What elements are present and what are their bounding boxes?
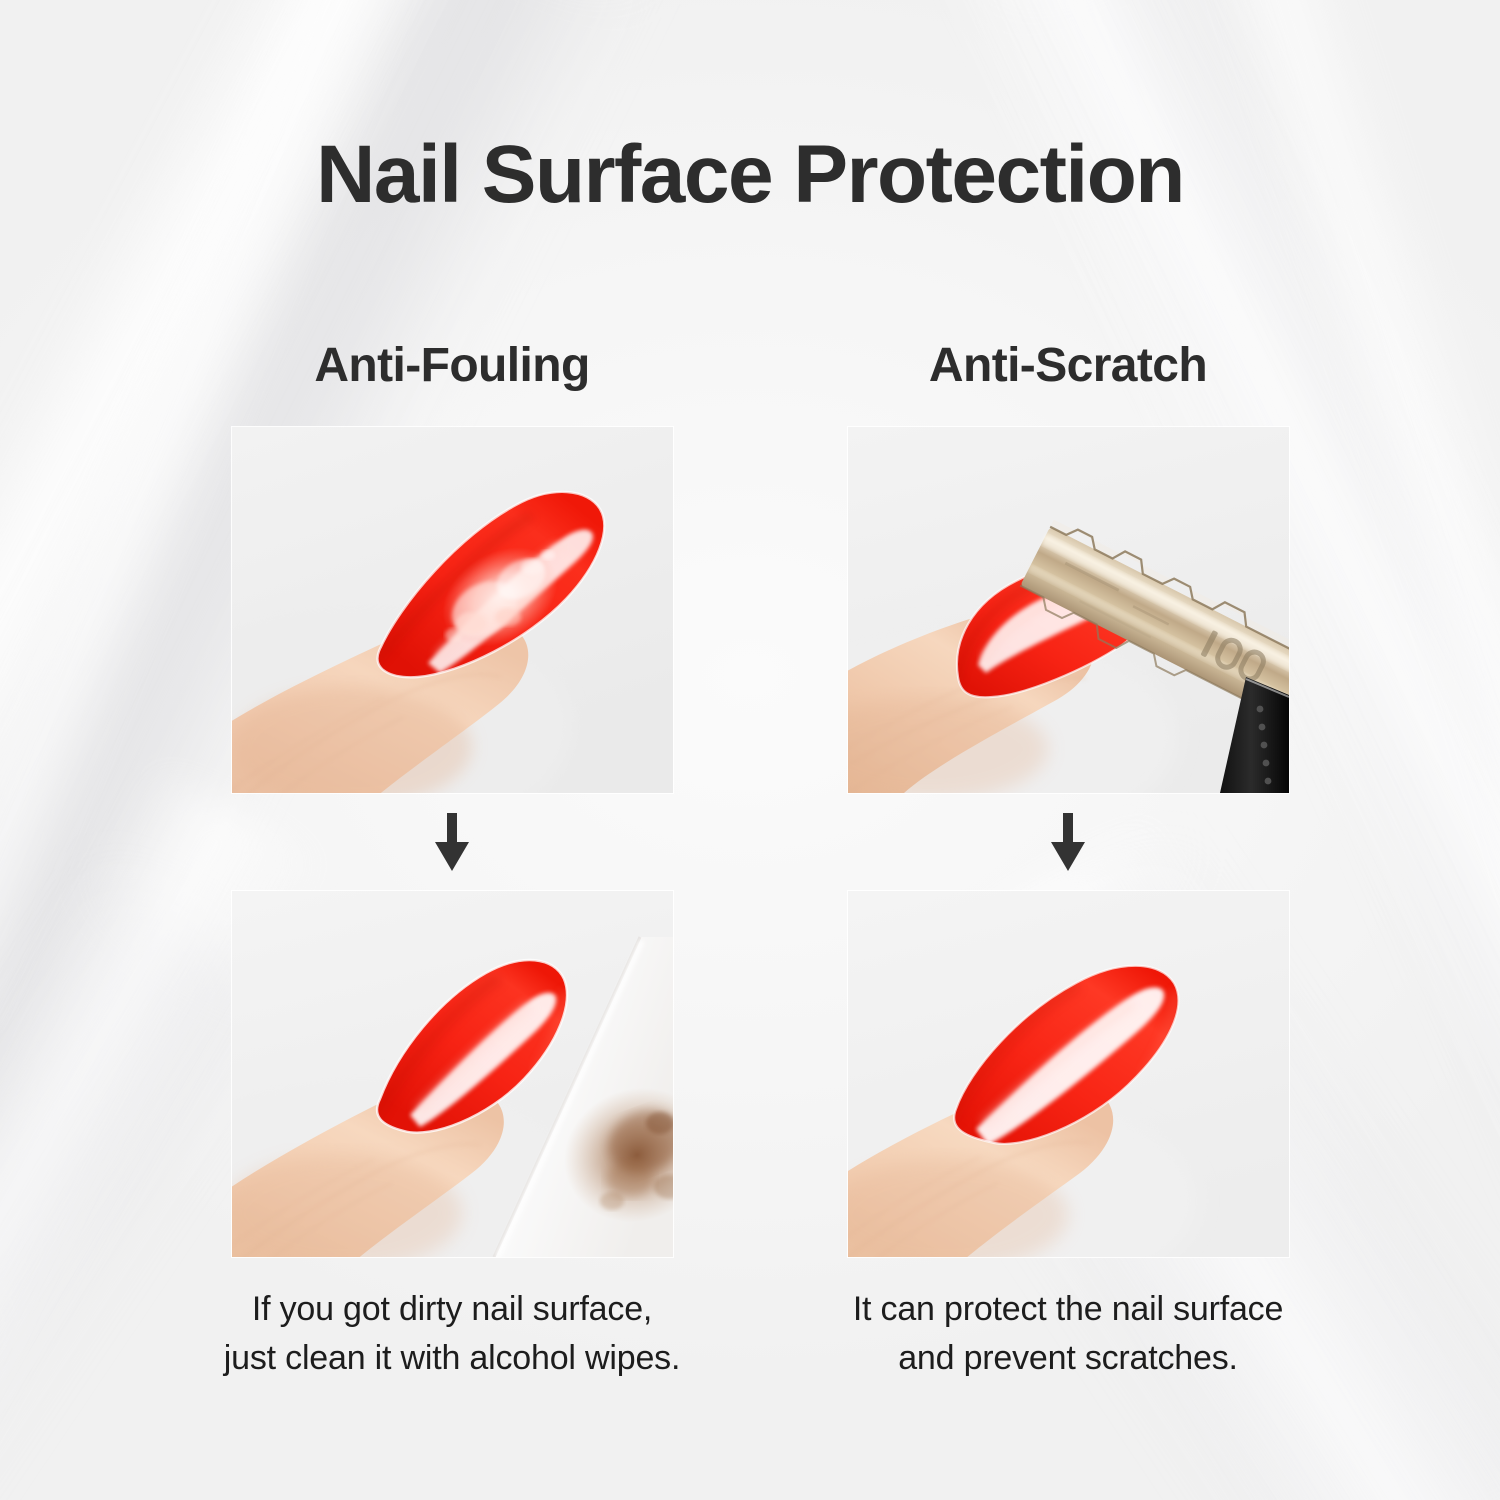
down-arrow-icon (1051, 813, 1085, 871)
photo-clean-nail-with-wipe-art (232, 891, 673, 1257)
comparison-columns: Anti-Fouling (0, 340, 1500, 1400)
arrow-anti-scratch (808, 793, 1328, 891)
content-root: Nail Surface Protection Anti-Fouling (0, 0, 1500, 1500)
caption-anti-fouling: If you got dirty nail surface, just clea… (192, 1285, 712, 1384)
column-heading-anti-scratch: Anti-Scratch (808, 340, 1328, 402)
column-anti-fouling: Anti-Fouling (192, 340, 712, 1384)
photo-intact-nail-art (848, 891, 1289, 1257)
photo-dirty-nail (232, 427, 673, 793)
page-title: Nail Surface Protection (0, 132, 1500, 218)
photo-key-scratch-test (848, 427, 1289, 793)
column-anti-scratch: Anti-Scratch (808, 340, 1328, 1384)
photo-intact-nail (848, 891, 1289, 1257)
arrow-anti-fouling (192, 793, 712, 891)
photo-key-scratch-test-art (848, 427, 1289, 793)
down-arrow-icon (435, 813, 469, 871)
column-heading-anti-fouling: Anti-Fouling (192, 340, 712, 402)
caption-anti-scratch: It can protect the nail surface and prev… (808, 1285, 1328, 1384)
photo-clean-nail-with-wipe (232, 891, 673, 1257)
photo-dirty-nail-art (232, 427, 673, 793)
